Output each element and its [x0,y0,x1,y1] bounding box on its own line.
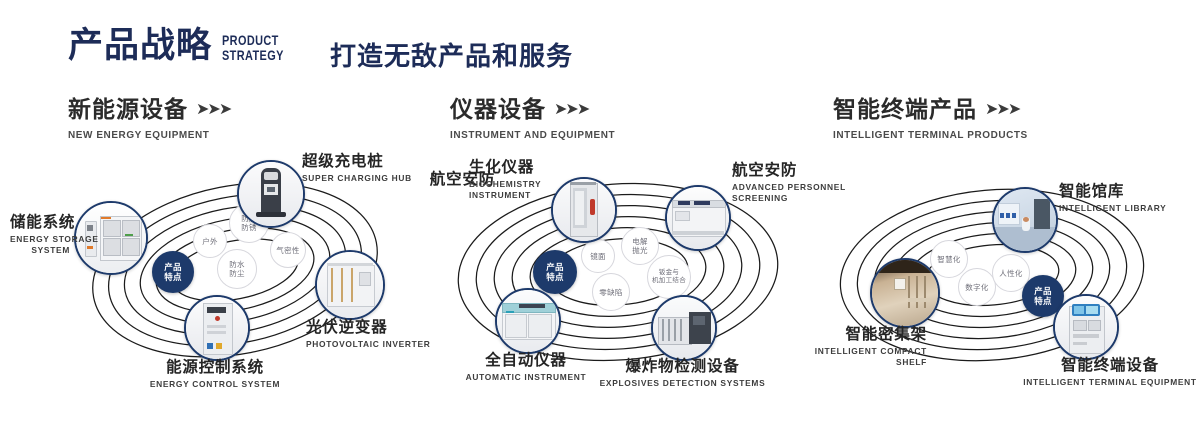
label-intelligent-compact-shelf: 智能密集架 INTELLIGENT COMPACT SHELF [755,325,927,368]
core-bubble-line2: 特点 [546,272,564,282]
energy-control-photo [186,297,248,359]
node-intelligent-compact-shelf[interactable] [870,258,940,328]
intelligent-library-photo [994,189,1056,251]
node-energy-control-system[interactable] [184,295,250,361]
label-energy-storage-system: 储能系统 ENERGY STORAGE SYSTEM [10,213,70,256]
biochemistry-photo [553,179,615,241]
page-title-english-line2: STRATEGY [222,48,284,63]
feature-bubble-waterproof: 防水 防尘 [217,249,257,289]
label-photovoltaic-inverter: 光伏逆变器 PHOTOVOLTAIC INVERTER [306,318,431,350]
page-slogan: 打造无敌产品和服务 [330,36,573,73]
core-bubble-line1: 产品 [1034,286,1052,296]
feature-bubble-zero-defect: 零缺陷 [592,273,630,311]
pv-inverter-photo [317,252,383,318]
section-title-en: INTELLIGENT TERMINAL PRODUCTS [833,129,1028,141]
feature-bubble-sheetmetal-machining: 钣金与 机加工结合 [647,255,691,299]
section-title-cn: 智能终端产品➤➤➤ [833,95,1038,124]
label-biochemistry-instrument: 生化仪器 BIOCHEMISTRY INSTRUMENT [469,158,541,201]
explosives-detection-photo [653,297,715,359]
node-explosives-detection[interactable] [651,295,717,361]
label-intelligent-terminal-equipment: 智能终端设备 INTELLIGENT TERMINAL EQUIPMENT [1000,356,1200,388]
chevron-right-icon: ➤➤➤ [985,96,1019,124]
section-title-instrument: 仪器设备➤➤➤ INSTRUMENT AND EQUIPMENT [450,95,624,141]
feature-bubble-electropolishing: 电解 抛光 [621,227,659,265]
page-title: 产品战略 [68,24,212,68]
section-title-cn: 仪器设备➤➤➤ [450,95,624,124]
page-title-english-line1: PRODUCT [222,33,284,48]
core-bubble-line2: 特点 [164,272,182,282]
label-intelligent-library: 智能馆库 INTELLIGENT LIBRARY [1059,182,1166,214]
section-title-en: INSTRUMENT AND EQUIPMENT [450,129,615,141]
page-header: 产品战略 PRODUCT STRATEGY 打造无敌产品和服务 [0,0,1200,86]
core-bubble-new-energy: 产品 特点 [152,251,194,293]
feature-bubble-outdoor: 户外 [193,224,227,258]
node-intelligent-terminal-equipment[interactable] [1053,294,1119,360]
node-biochemistry-instrument[interactable] [551,177,617,243]
node-automatic-instrument[interactable] [495,288,561,354]
core-bubble-instrument: 产品 特点 [533,250,577,294]
feature-bubble-digital: 数字化 [958,268,996,306]
node-super-charging-hub[interactable] [237,160,305,228]
personnel-screening-photo [667,187,729,249]
cluster-intelligent-terminal: 智慧化 数字化 人性化 产品 特点 智能馆库 INTELLIGENT LIBRA… [810,155,1190,385]
charging-hub-photo [239,162,303,226]
core-bubble-line1: 产品 [546,262,564,272]
node-intelligent-library[interactable] [992,187,1058,253]
terminal-equipment-photo [1055,296,1117,358]
core-bubble-line2: 特点 [1034,296,1052,306]
section-title-cn: 新能源设备➤➤➤ [68,95,230,124]
core-bubble-line1: 产品 [164,262,182,272]
feature-bubble-airtightness: 气密性 [270,232,306,268]
chevron-right-icon: ➤➤➤ [554,96,588,124]
section-title-intelligent-terminal: 智能终端产品➤➤➤ INTELLIGENT TERMINAL PRODUCTS [833,95,1038,141]
chevron-right-icon: ➤➤➤ [196,96,230,124]
compact-shelf-photo [872,260,938,326]
section-title-en: NEW ENERGY EQUIPMENT [68,129,222,141]
section-title-new-energy: 新能源设备➤➤➤ NEW ENERGY EQUIPMENT [68,95,230,141]
feature-bubble-mirror: 镜面 [581,239,615,273]
cluster-new-energy: 产品 特点 户外 防腐 防锈 防水 防尘 气密性 储能系统 ENERGY STO… [55,155,415,385]
node-advanced-personnel-screening[interactable] [665,185,731,251]
label-energy-control-system: 能源控制系统 ENERGY CONTROL SYSTEM [90,358,340,390]
page-title-english: PRODUCT STRATEGY [222,33,284,63]
automatic-instrument-photo [497,290,559,352]
node-photovoltaic-inverter[interactable] [315,250,385,320]
